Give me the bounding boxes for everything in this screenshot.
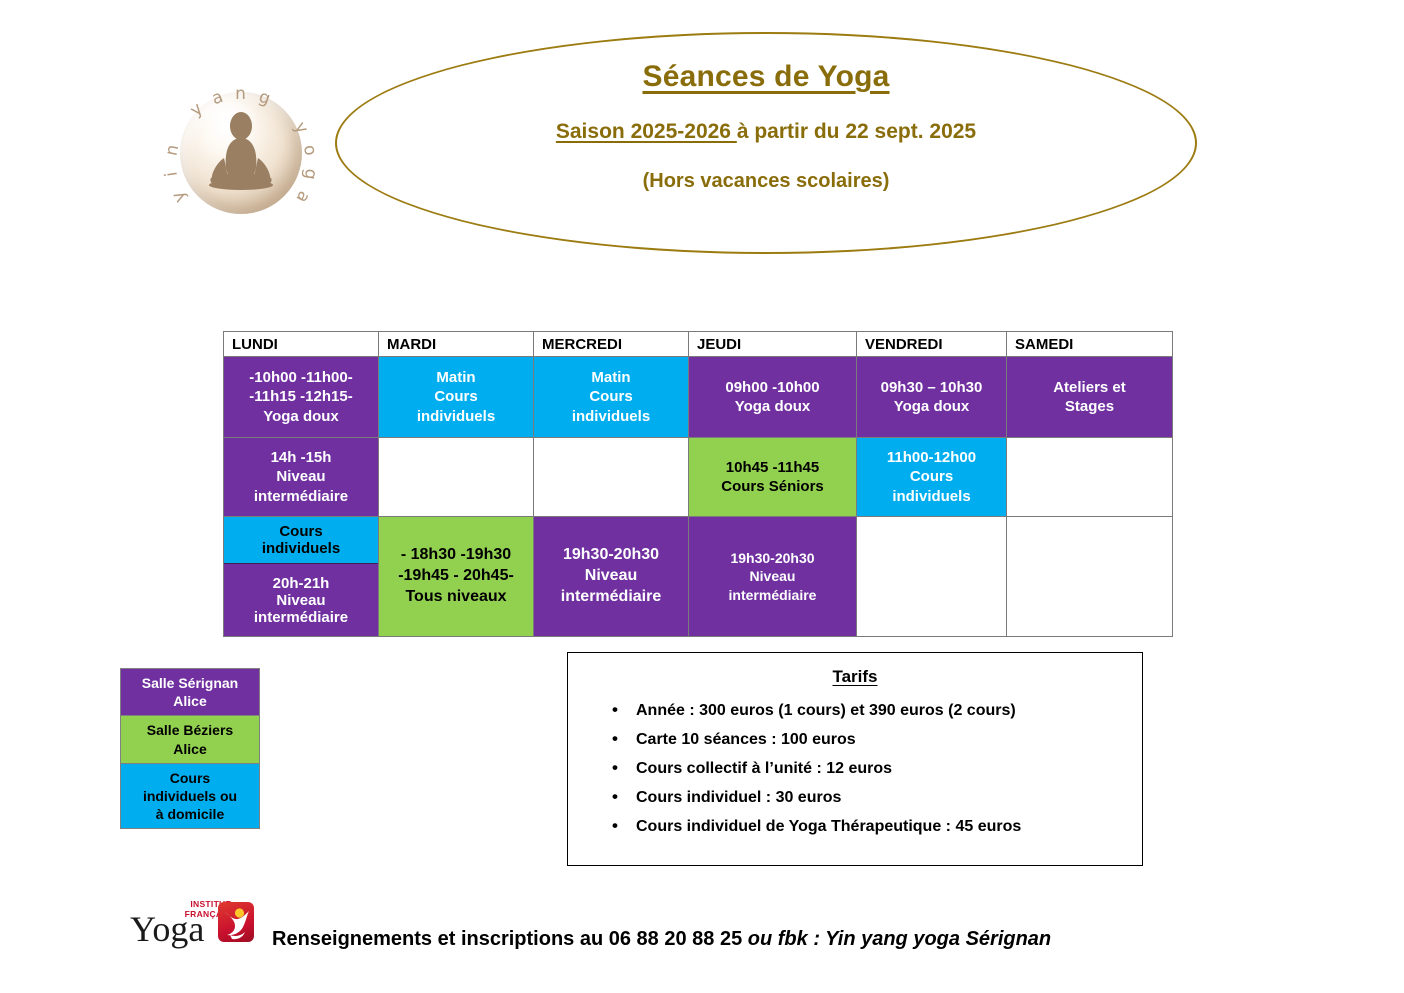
schedule-header-row: LUNDI MARDI MERCREDI JEUDI VENDREDI SAME…: [224, 332, 1173, 357]
schedule-cell-vendredi-row1[interactable]: 09h30 – 10h30Yoga doux: [857, 357, 1007, 438]
column-header-mercredi: MERCREDI: [534, 332, 689, 357]
tarifs-list: Année : 300 euros (1 cours) et 390 euros…: [568, 703, 1142, 835]
schedule-cell-mercredi-row2[interactable]: [534, 438, 689, 517]
schedule-cell-line: individuels: [860, 487, 1003, 507]
schedule-cell-line: 19h30-20h30: [537, 545, 685, 566]
schedule-cell-line: intermédiaire: [227, 487, 375, 507]
legend-item-0[interactable]: Salle SérignanAlice: [121, 669, 259, 716]
ify-emblem-icon: [218, 902, 254, 942]
schedule-cell-content: [1007, 517, 1172, 636]
tarif-item-2: Cours collectif à l’unité : 12 euros: [636, 761, 1142, 777]
schedule-cell-line: 19h30-20h30: [692, 549, 853, 567]
header-zone: yinyangyoga Séances de Yoga Saison 2025-…: [0, 0, 1404, 290]
schedule-cell-line: intermédiaire: [692, 586, 853, 604]
tarif-item-1: Carte 10 séances : 100 euros: [636, 732, 1142, 748]
schedule-cell-line: 09h30 – 10h30: [860, 378, 1003, 398]
logo-wordmark-letter: g: [299, 167, 320, 181]
schedule-row: -10h00 -11h00--11h15 -12h15-Yoga douxMat…: [224, 357, 1173, 438]
schedule-cell-line: Cours: [224, 523, 378, 540]
column-header-mardi: MARDI: [379, 332, 534, 357]
schedule-cell-line: Matin: [382, 368, 530, 388]
schedule-cell-line: - 18h30 -19h30: [382, 545, 530, 566]
schedule-cell-samedi-row1[interactable]: Ateliers etStages: [1007, 357, 1173, 438]
column-header-jeudi: JEUDI: [689, 332, 857, 357]
schedule-cell-line: -19h45 - 20h45-: [382, 566, 530, 587]
column-header-samedi: SAMEDI: [1007, 332, 1173, 357]
schedule-cell-lundi-row3[interactable]: Coursindividuels20h-21hNiveauintermédiai…: [224, 517, 379, 637]
tarif-item-0: Année : 300 euros (1 cours) et 390 euros…: [636, 703, 1142, 719]
schedule-cell-lundi-row2[interactable]: 14h -15hNiveauintermédiaire: [224, 438, 379, 517]
schedule-cell-line: Matin: [537, 368, 685, 388]
title-block: Séances de Yoga Saison 2025-2026 à parti…: [355, 60, 1177, 193]
room-color-legend: Salle SérignanAliceSalle BéziersAliceCou…: [120, 668, 260, 829]
schedule-cell-line: -11h15 -12h15-: [227, 387, 375, 407]
legend-item-2[interactable]: Coursindividuels ouà domicile: [121, 764, 259, 829]
ify-wordmark: Yoga: [130, 911, 204, 947]
schedule-cell-jeudi-row1[interactable]: 09h00 -10h00Yoga doux: [689, 357, 857, 438]
schedule-cell-mardi-row3[interactable]: - 18h30 -19h30-19h45 - 20h45-Tous niveau…: [379, 517, 534, 637]
season-subtitle: Saison 2025-2026 à partir du 22 sept. 20…: [355, 120, 1177, 144]
contact-line: Renseignements et inscriptions au 06 88 …: [272, 928, 1051, 951]
schedule-cell-lundi-row1[interactable]: -10h00 -11h00--11h15 -12h15-Yoga doux: [224, 357, 379, 438]
schedule-body: -10h00 -11h00--11h15 -12h15-Yoga douxMat…: [224, 357, 1173, 637]
schedule-cell-line: Cours: [537, 387, 685, 407]
legend-item-line: Alice: [125, 692, 255, 710]
contact-phone-text: Renseignements et inscriptions au 06 88 …: [272, 928, 748, 950]
schedule-cell-line: individuels: [224, 540, 378, 557]
schedule-cell-line: Yoga doux: [860, 397, 1003, 417]
institut-francais-de-yoga-logo: INSTITUT FRANÇAIS DE Yoga: [130, 894, 252, 952]
schedule-cell-content: 19h30-20h30Niveauintermédiaire: [689, 517, 856, 636]
schedule-cell-line: Cours Séniors: [692, 477, 853, 497]
schedule-cell-mardi-row2[interactable]: [379, 438, 534, 517]
schedule-cell-samedi-row2[interactable]: [1007, 438, 1173, 517]
schedule-cell-line: individuels: [382, 407, 530, 427]
schedule-cell-content: 11h00-12h00Coursindividuels: [857, 438, 1006, 516]
schedule-cell-line: 11h00-12h00: [860, 448, 1003, 468]
schedule-cell-content: 19h30-20h30Niveauintermédiaire: [534, 517, 688, 636]
weekly-schedule-table: LUNDI MARDI MERCREDI JEUDI VENDREDI SAME…: [223, 331, 1173, 637]
schedule-cell-content: MatinCoursindividuels: [379, 357, 533, 437]
schedule-cell-line: Niveau: [692, 567, 853, 585]
legend-item-line: Alice: [125, 740, 255, 758]
contact-facebook-text: ou fbk : Yin yang yoga Sérignan: [748, 928, 1051, 950]
split-cell: Coursindividuels20h-21hNiveauintermédiai…: [224, 517, 378, 636]
schedule-cell-jeudi-row2[interactable]: 10h45 -11h45Cours Séniors: [689, 438, 857, 517]
schedule-cell-content: [1007, 438, 1172, 516]
season-startdate: à partir du 22 sept. 2025: [737, 120, 976, 143]
legend-item-line: Salle Béziers: [125, 721, 255, 739]
schedule-cell-content: Ateliers etStages: [1007, 357, 1172, 437]
schedule-cell-line: intermédiaire: [224, 609, 378, 626]
schedule-cell-line: -10h00 -11h00-: [227, 368, 375, 388]
schedule-cell-content: -10h00 -11h00--11h15 -12h15-Yoga doux: [224, 357, 378, 437]
column-header-vendredi: VENDREDI: [857, 332, 1007, 357]
logo-wordmark-letter: i: [161, 170, 181, 178]
schedule-cell-content: 10h45 -11h45Cours Séniors: [689, 438, 856, 516]
schedule-cell-line: Niveau: [224, 592, 378, 609]
yin-yang-yoga-logo: yinyangyoga: [163, 86, 318, 241]
legend-item-line: Salle Sérignan: [125, 674, 255, 692]
schedule-cell-content: [857, 517, 1006, 636]
meditating-figure-icon: [180, 92, 302, 214]
schedule-cell-line: Ateliers et: [1010, 378, 1169, 398]
schedule-cell-line: Yoga doux: [692, 397, 853, 417]
schedule-cell-line: Tous niveaux: [382, 587, 530, 608]
schedule-cell-line: Cours: [860, 467, 1003, 487]
schedule-cell-line: Cours: [382, 387, 530, 407]
legend-item-line: individuels ou: [125, 787, 255, 805]
schedule-cell-line: 10h45 -11h45: [692, 458, 853, 478]
schedule-subcell[interactable]: 20h-21hNiveauintermédiaire: [224, 564, 378, 636]
schedule-cell-line: Yoga doux: [227, 407, 375, 427]
schedule-cell-line: 14h -15h: [227, 448, 375, 468]
schedule-cell-mercredi-row1[interactable]: MatinCoursindividuels: [534, 357, 689, 438]
schedule-cell-line: Stages: [1010, 397, 1169, 417]
schedule-cell-vendredi-row2[interactable]: 11h00-12h00Coursindividuels: [857, 438, 1007, 517]
schedule-cell-line: Niveau: [227, 467, 375, 487]
schedule-cell-line: Niveau: [537, 566, 685, 587]
schedule-cell-line: intermédiaire: [537, 587, 685, 608]
schedule-cell-content: [379, 438, 533, 516]
tarifs-title: Tarifs: [568, 667, 1142, 687]
tarif-item-4: Cours individuel de Yoga Thérapeutique :…: [636, 819, 1142, 835]
season-range: Saison 2025-2026: [556, 120, 737, 143]
schedule-row: Coursindividuels20h-21hNiveauintermédiai…: [224, 517, 1173, 637]
tarif-item-3: Cours individuel : 30 euros: [636, 790, 1142, 806]
schedule-cell-content: 09h00 -10h00Yoga doux: [689, 357, 856, 437]
schedule-cell-line: 09h00 -10h00: [692, 378, 853, 398]
legend-item-line: Cours: [125, 769, 255, 787]
schedule-cell-content: MatinCoursindividuels: [534, 357, 688, 437]
legend-item-line: à domicile: [125, 805, 255, 823]
column-header-lundi: LUNDI: [224, 332, 379, 357]
legend-item-1[interactable]: Salle BéziersAlice: [121, 716, 259, 763]
schedule-cell-line: individuels: [537, 407, 685, 427]
schedule-cell-content: - 18h30 -19h30-19h45 - 20h45-Tous niveau…: [379, 517, 533, 636]
ify-flame-figure-icon: [218, 902, 254, 942]
schedule-cell-mardi-row1[interactable]: MatinCoursindividuels: [379, 357, 534, 438]
schedule-cell-mercredi-row3[interactable]: 19h30-20h30Niveauintermédiaire: [534, 517, 689, 637]
schedule-row: 14h -15hNiveauintermédiaire10h45 -11h45C…: [224, 438, 1173, 517]
schedule-cell-vendredi-row3[interactable]: [857, 517, 1007, 637]
schedule-cell-content: [534, 438, 688, 516]
tarifs-box: Tarifs Année : 300 euros (1 cours) et 39…: [567, 652, 1143, 866]
page-title: Séances de Yoga: [355, 60, 1177, 94]
schedule-cell-jeudi-row3[interactable]: 19h30-20h30Niveauintermédiaire: [689, 517, 857, 637]
schedule-cell-content: 14h -15hNiveauintermédiaire: [224, 438, 378, 516]
schedule-subcell[interactable]: Coursindividuels: [224, 517, 378, 564]
holiday-note: (Hors vacances scolaires): [355, 170, 1177, 193]
schedule-cell-content: 09h30 – 10h30Yoga doux: [857, 357, 1006, 437]
schedule-cell-line: 20h-21h: [224, 575, 378, 592]
schedule-cell-samedi-row3[interactable]: [1007, 517, 1173, 637]
